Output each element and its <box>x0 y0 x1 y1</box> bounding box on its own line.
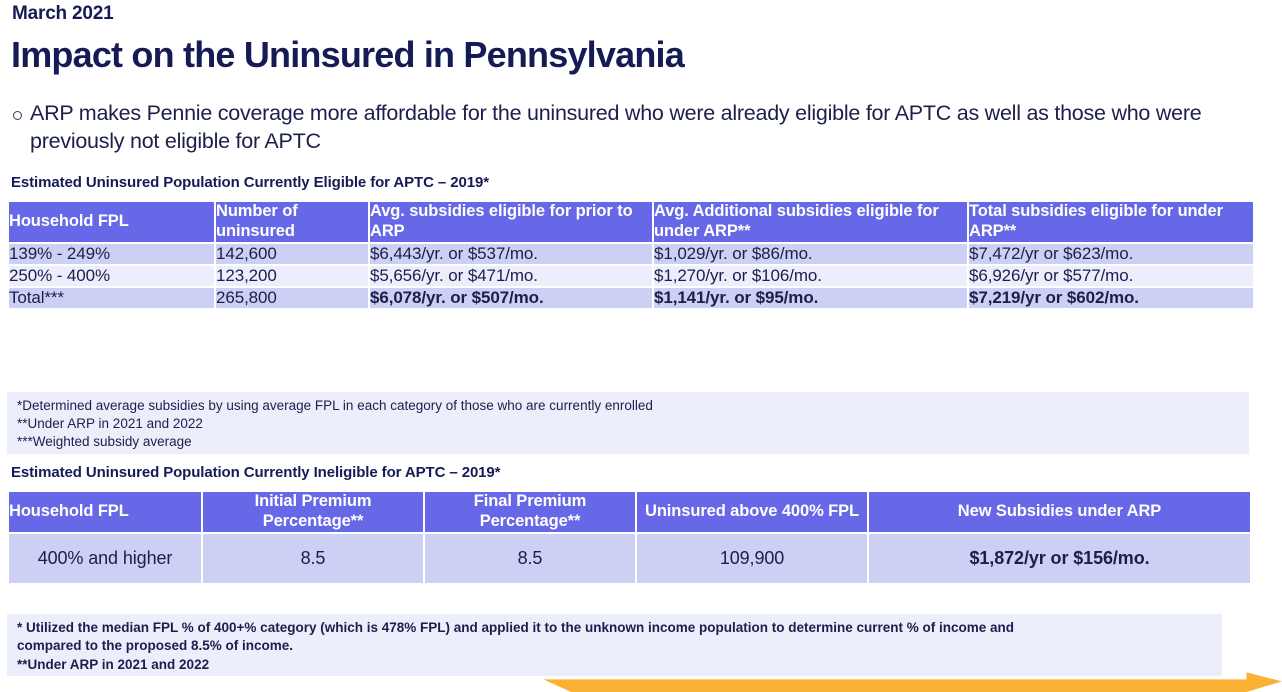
cell-additional-arp: $1,029/yr. or $86/mo. <box>654 244 967 264</box>
table-eligible: Household FPL Number of uninsured Avg. s… <box>7 200 1255 310</box>
note-line: ***Weighted subsidy average <box>17 433 1239 451</box>
cell-total-arp: $7,219/yr or $602/mo. <box>969 288 1253 308</box>
cell-total-arp: $6,926/yr or $577/mo. <box>969 266 1253 286</box>
cell-fpl: 400% and higher <box>9 534 201 583</box>
cell-fpl: 139% - 249% <box>9 244 214 264</box>
table-total-row: Total*** 265,800 $6,078/yr. or $507/mo. … <box>9 288 1253 308</box>
table-ineligible-caption: Estimated Uninsured Population Currently… <box>11 464 500 481</box>
table-row: 250% - 400% 123,200 $5,656/yr. or $471/m… <box>9 266 1253 286</box>
table-header-row: Household FPL Number of uninsured Avg. s… <box>9 202 1253 242</box>
cell-uninsured: 142,600 <box>216 244 368 264</box>
circle-outline-icon <box>4 100 30 124</box>
cell-prior-arp: $6,078/yr. or $507/mo. <box>370 288 652 308</box>
col-household-fpl: Household FPL <box>9 492 201 532</box>
cell-additional-arp: $1,270/yr. or $106/mo. <box>654 266 967 286</box>
table-eligible-caption: Estimated Uninsured Population Currently… <box>11 174 489 191</box>
col-new-subsidies-under-arp: New Subsidies under ARP <box>869 492 1250 532</box>
note-line: **Under ARP in 2021 and 2022 <box>17 656 1212 674</box>
cell-prior-arp: $5,656/yr. or $471/mo. <box>370 266 652 286</box>
table-ineligible: Household FPL Initial Premium Percentage… <box>7 490 1252 585</box>
col-initial-premium-percentage: Initial Premium Percentage** <box>203 492 423 532</box>
slide-canvas: March 2021 Impact on the Uninsured in Pe… <box>0 0 1282 692</box>
cell-initial-pct: 8.5 <box>203 534 423 583</box>
table-eligible-notes: *Determined average subsidies by using a… <box>7 392 1249 454</box>
col-number-uninsured: Number of uninsured <box>216 202 368 242</box>
note-line: *Determined average subsidies by using a… <box>17 397 1239 415</box>
slide-date: March 2021 <box>12 3 114 25</box>
cell-final-pct: 8.5 <box>425 534 635 583</box>
cell-fpl: Total*** <box>9 288 214 308</box>
cell-additional-arp: $1,141/yr. or $95/mo. <box>654 288 967 308</box>
cell-prior-arp: $6,443/yr. or $537/mo. <box>370 244 652 264</box>
cell-total-arp: $7,472/yr or $623/mo. <box>969 244 1253 264</box>
col-final-premium-percentage: Final Premium Percentage** <box>425 492 635 532</box>
col-household-fpl: Household FPL <box>9 202 214 242</box>
bullet-item: ARP makes Pennie coverage more affordabl… <box>4 100 1278 155</box>
note-line: * Utilized the median FPL % of 400+% cat… <box>17 619 1212 637</box>
col-uninsured-above-400-fpl: Uninsured above 400% FPL <box>637 492 867 532</box>
cell-new-subsidies: $1,872/yr or $156/mo. <box>869 534 1250 583</box>
col-total-subsidies-arp: Total subsidies eligible for under ARP** <box>969 202 1253 242</box>
table-row: 139% - 249% 142,600 $6,443/yr. or $537/m… <box>9 244 1253 264</box>
col-avg-additional-subsidies-arp: Avg. Additional subsidies eligible for u… <box>654 202 967 242</box>
cell-uninsured: 123,200 <box>216 266 368 286</box>
note-line: **Under ARP in 2021 and 2022 <box>17 415 1239 433</box>
table-row: 400% and higher 8.5 8.5 109,900 $1,872/y… <box>9 534 1250 583</box>
cell-uninsured-above: 109,900 <box>637 534 867 583</box>
table-header-row: Household FPL Initial Premium Percentage… <box>9 492 1250 532</box>
cell-uninsured: 265,800 <box>216 288 368 308</box>
note-line: compared to the proposed 8.5% of income. <box>17 637 1212 655</box>
bullet-text: ARP makes Pennie coverage more affordabl… <box>30 100 1278 155</box>
col-avg-subsidies-prior-arp: Avg. subsidies eligible for prior to ARP <box>370 202 652 242</box>
cell-fpl: 250% - 400% <box>9 266 214 286</box>
page-title: Impact on the Uninsured in Pennsylvania <box>11 36 684 74</box>
table-ineligible-notes: * Utilized the median FPL % of 400+% cat… <box>7 614 1222 676</box>
